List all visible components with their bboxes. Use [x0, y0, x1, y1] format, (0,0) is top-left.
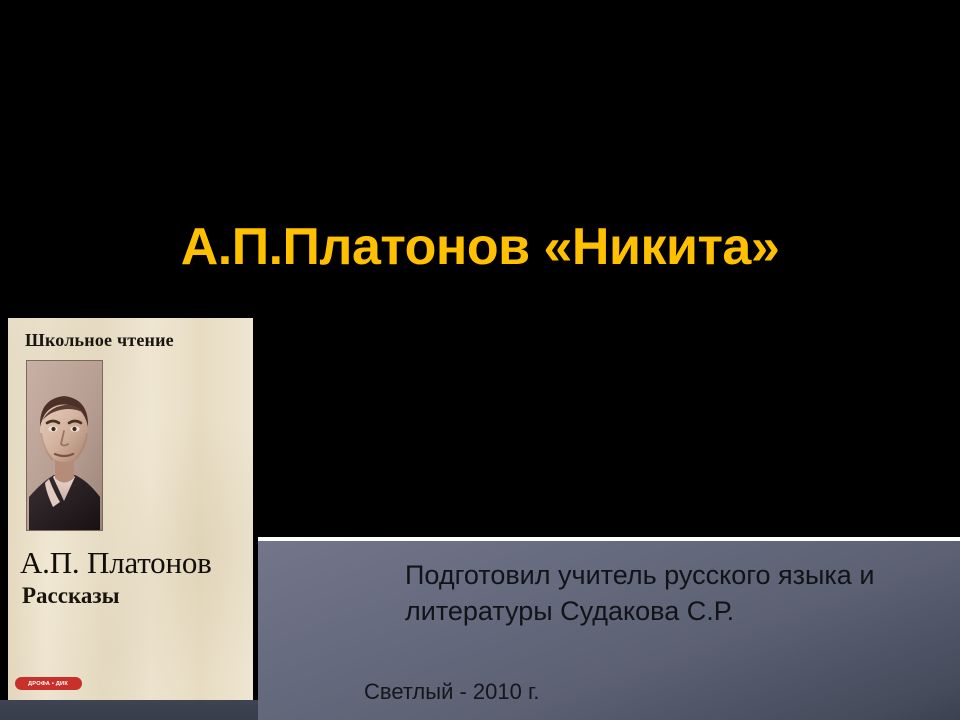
publisher-logo: ДРОФА • ДИК	[15, 677, 82, 690]
book-series-label: Школьное чтение	[25, 330, 174, 351]
place-and-year: Светлый - 2010 г.	[364, 678, 539, 706]
book-author-name: А.П. Платонов	[20, 545, 212, 581]
author-portrait-icon	[26, 360, 103, 531]
book-kind-label: Рассказы	[22, 583, 120, 609]
presentation-slide: А.П.Платонов «Никита» Школьное чтение	[0, 0, 960, 720]
prepared-by-text: Подготовил учитель русского языка и лите…	[405, 557, 950, 629]
publisher-logo-text: ДРОФА • ДИК	[29, 681, 69, 687]
slide-title: А.П.Платонов «Никита»	[0, 216, 960, 278]
subtitle-panel: Подготовил учитель русского языка и лите…	[258, 541, 960, 720]
book-cover-image: Школьное чтение	[8, 318, 253, 700]
